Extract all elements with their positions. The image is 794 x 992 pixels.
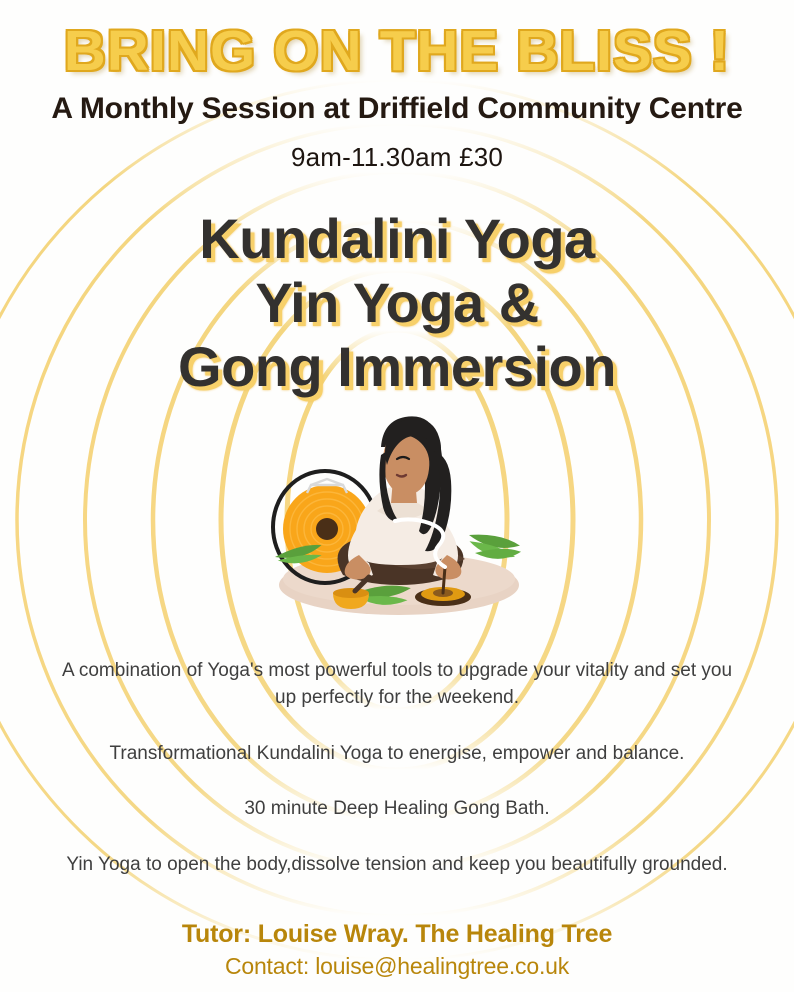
- poster: BRING ON THE BLISS ! A Monthly Session a…: [0, 0, 794, 992]
- body-paragraph-4: Yin Yoga to open the body,dissolve tensi…: [60, 851, 734, 879]
- heading-line-yin-yoga: Yin Yoga &: [0, 271, 794, 335]
- time-and-price: 9am-11.30am £30: [0, 142, 794, 173]
- body-paragraph-1: A combination of Yoga's most powerful to…: [60, 657, 734, 712]
- header: BRING ON THE BLISS ! A Monthly Session a…: [0, 0, 794, 173]
- heading-line-kundalini-yoga: Kundalini Yoga: [0, 207, 794, 271]
- footer: Tutor: Louise Wray. The Healing Tree Con…: [0, 920, 794, 980]
- incense-stick: [443, 567, 445, 593]
- body-paragraph-3: 30 minute Deep Healing Gong Bath.: [60, 795, 734, 823]
- body-copy: A combination of Yoga's most powerful to…: [0, 657, 794, 879]
- meditating-woman-with-gong-illustration: [247, 407, 547, 637]
- main-headings: Kundalini Yoga Yin Yoga & Gong Immersion: [0, 207, 794, 398]
- poster-title: BRING ON THE BLISS !: [0, 22, 794, 80]
- body-paragraph-2: Transformational Kundalini Yoga to energ…: [60, 740, 734, 768]
- poster-subtitle: A Monthly Session at Driffield Community…: [0, 92, 794, 126]
- footer-contact-email[interactable]: Contact: louise@healingtree.co.uk: [0, 953, 794, 980]
- heading-line-gong-immersion: Gong Immersion: [0, 335, 794, 399]
- footer-tutor: Tutor: Louise Wray. The Healing Tree: [0, 920, 794, 949]
- illustration-container: [0, 407, 794, 637]
